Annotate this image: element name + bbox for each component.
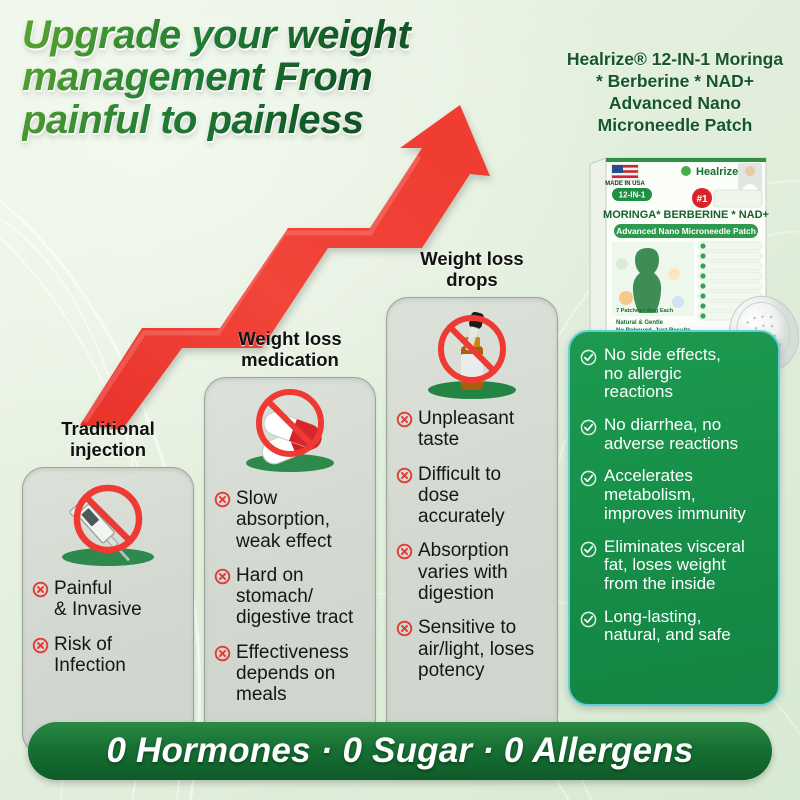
headline-line-1: Upgrade your weight [22,14,542,56]
product-title-line-3: Advanced Nano [556,92,794,114]
bullet-text: Absorption varies with digestion [418,540,509,604]
bullet-item: Effectiveness depends on meals [214,642,366,706]
bullet-item: Absorption varies with digestion [396,540,548,604]
bullet-text: Risk of Infection [54,634,126,677]
bullet-item: Difficult to dose accurately [396,464,548,528]
x-circle-icon [396,467,413,484]
banner-text: 0 Hormones · 0 Sugar · 0 Allergens [106,731,693,771]
column-title-line-1: Traditional [22,418,194,439]
benefit-item: Eliminates visceral fat, loses weight fr… [579,538,769,594]
x-circle-icon [214,568,231,585]
check-circle-icon [579,348,598,367]
check-circle-icon [579,418,598,437]
column-title-line-1: Weight loss [386,248,558,269]
benefit-item: No side effects, no allergic reactions [579,346,769,402]
x-circle-icon [32,581,49,598]
check-circle-icon [579,540,598,559]
column-title-line-2: injection [22,439,194,460]
x-circle-icon [214,491,231,508]
no-dropper-bottle-icon [396,308,548,404]
bullet-item: Slow absorption, weak effect [214,488,366,552]
comparison-column-weight-loss-drops: Weight loss drops [386,248,558,755]
box-main-line: MORINGA* BERBERINE * NAD+ [603,209,769,221]
bullet-text: Effectiveness depends on meals [236,642,349,706]
benefit-text: Eliminates visceral fat, loses weight fr… [604,538,745,594]
box-footer-patches: 7 Patches / 4mg Each [616,308,674,314]
x-circle-icon [396,543,413,560]
bullet-item: Risk of Infection [32,634,184,677]
comparison-card: Slow absorption, weak effect Hard on sto… [204,377,376,755]
bullet-text: Slow absorption, weak effect [236,488,332,552]
column-title: Weight loss medication [204,328,376,370]
x-circle-icon [32,637,49,654]
product-title-line-2: * Berberine * NAD+ [556,70,794,92]
rank-badge: #1 [696,194,708,205]
bullet-text: Hard on stomach/ digestive tract [236,565,353,629]
benefits-panel: No side effects, no allergic reactions N… [568,330,780,706]
column-title-line-2: drops [386,269,558,290]
bullet-text: Unpleasant taste [418,408,514,451]
x-circle-icon [396,620,413,637]
bullet-text: Difficult to dose accurately [418,464,505,528]
box-footer-natural: Natural & Gentle [616,320,664,326]
bullet-item: Hard on stomach/ digestive tract [214,565,366,629]
bullet-list: Painful & Invasive Risk of Infection [32,578,184,676]
benefit-text: Long-lasting, natural, and safe [604,608,731,645]
bullet-item: Painful & Invasive [32,578,184,621]
bullet-list: Slow absorption, weak effect Hard on sto… [214,488,366,705]
comparison-card: Painful & Invasive Risk of Infection [22,467,194,755]
comparison-column-weight-loss-medication: Weight loss medication [204,328,376,755]
headline-line-2: management From [22,56,542,98]
check-circle-icon [579,610,598,629]
product-title-line-1: Healrize® 12-IN-1 Moringa [556,48,794,70]
box-sub-line: Advanced Nano Microneedle Patch [616,226,756,236]
badge-12-in-1: 12-IN-1 [619,191,646,200]
benefit-text: No side effects, no allergic reactions [604,346,721,402]
column-title: Weight loss drops [386,248,558,290]
benefit-item: Long-lasting, natural, and safe [579,608,769,645]
comparison-column-traditional-injection: Traditional injection [22,418,194,755]
check-circle-icon [579,469,598,488]
bullet-item: Sensitive to air/light, loses potency [396,617,548,681]
benefit-text: Accelerates metabolism, improves immunit… [604,467,746,523]
benefit-item: Accelerates metabolism, improves immunit… [579,467,769,523]
product-title-line-4: Microneedle Patch [556,114,794,136]
infographic-canvas: Upgrade your weight management From pain… [0,0,800,800]
x-circle-icon [214,645,231,662]
benefit-text: No diarrhea, no adverse reactions [604,416,738,453]
bottom-banner: 0 Hormones · 0 Sugar · 0 Allergens [28,722,772,780]
no-syringe-icon [32,478,184,574]
bullet-text: Sensitive to air/light, loses potency [418,617,534,681]
column-title-line-2: medication [204,349,376,370]
x-circle-icon [396,411,413,428]
made-in-usa-label: MADE IN USA [605,181,645,187]
bullet-text: Painful & Invasive [54,578,142,621]
bullet-list: Unpleasant taste Difficult to dose accur… [396,408,548,681]
benefit-item: No diarrhea, no adverse reactions [579,416,769,453]
product-title: Healrize® 12-IN-1 Moringa * Berberine * … [556,48,794,136]
column-title: Traditional injection [22,418,194,460]
no-pills-icon [214,388,366,484]
comparison-card: Unpleasant taste Difficult to dose accur… [386,297,558,755]
column-title-line-1: Weight loss [204,328,376,349]
bullet-item: Unpleasant taste [396,408,548,451]
